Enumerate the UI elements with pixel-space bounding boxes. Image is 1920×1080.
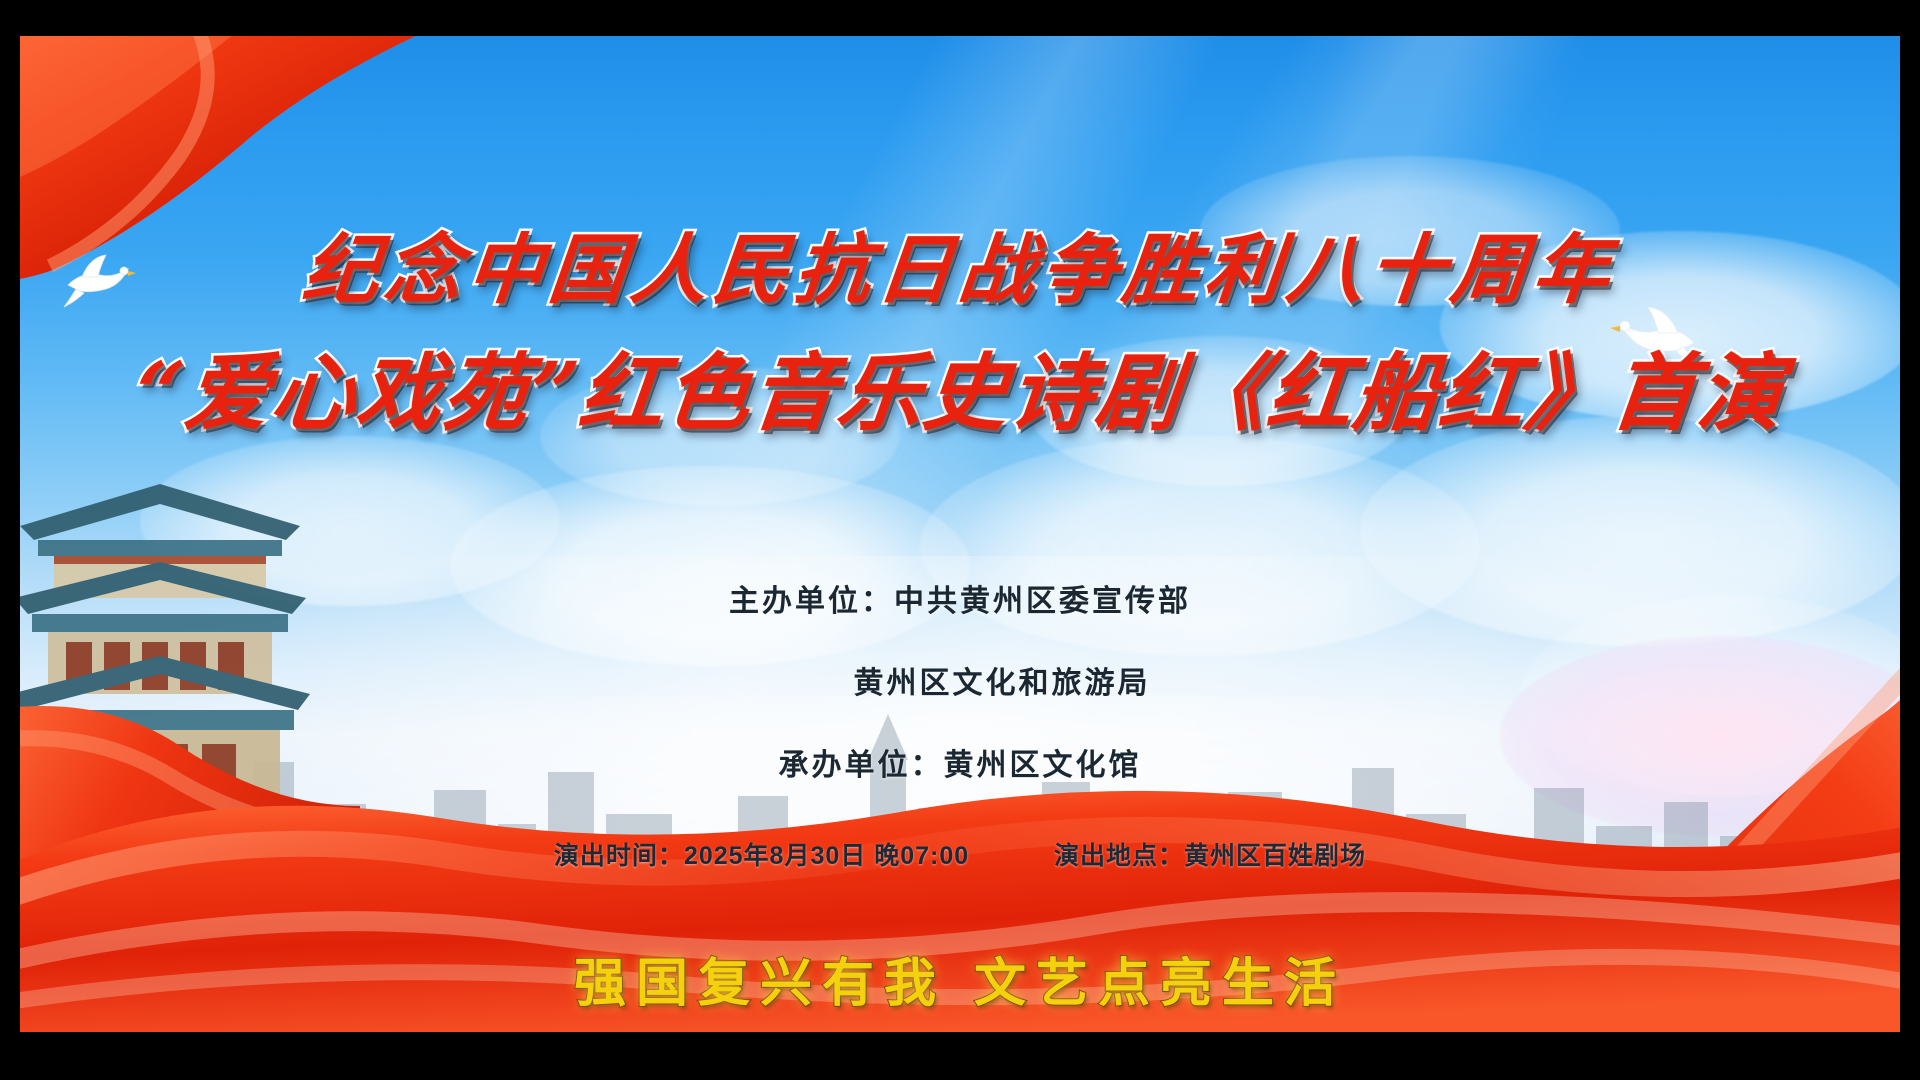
slogan-text: 强国复兴有我 文艺点亮生活 (574, 941, 1346, 1016)
slogan-banner: 强国复兴有我 文艺点亮生活 (20, 941, 1900, 1016)
letterbox-left (0, 0, 20, 1080)
poster-headline-primary: 纪念中国人民抗日战争胜利八十周年 (20, 208, 1900, 318)
letterbox-top (0, 0, 1920, 36)
organizer-line: 承办单位：黄州区文化馆 (20, 740, 1900, 784)
poster-canvas: 纪念中国人民抗日战争胜利八十周年 “爱心戏苑”红色音乐史诗剧《红船红》首演 主办… (20, 36, 1900, 1032)
headline-line-1-text: 纪念中国人民抗日战争胜利八十周年 (298, 208, 1622, 318)
letterbox-bottom (0, 1032, 1920, 1080)
performance-time: 演出时间：2025年8月30日 晚07:00 (554, 836, 969, 872)
poster-headline-secondary: “爱心戏苑”红色音乐史诗剧《红船红》首演 (20, 326, 1900, 447)
headline-line-2-text: “爱心戏苑”红色音乐史诗剧《红船红》首演 (129, 326, 1790, 447)
organizer-line: 黄州区文化和旅游局 (20, 658, 1900, 702)
performance-info-row: 演出时间：2025年8月30日 晚07:00 演出地点：黄州区百姓剧场 (20, 836, 1900, 872)
organizer-block: 主办单位：中共黄州区委宣传部 黄州区文化和旅游局 承办单位：黄州区文化馆 (20, 576, 1900, 822)
letterbox-right (1900, 0, 1920, 1080)
performance-venue: 演出地点：黄州区百姓剧场 (1054, 836, 1366, 872)
video-frame: 纪念中国人民抗日战争胜利八十周年 “爱心戏苑”红色音乐史诗剧《红船红》首演 主办… (0, 0, 1920, 1080)
sky-background (20, 36, 1900, 1032)
organizer-line: 主办单位：中共黄州区委宣传部 (20, 576, 1900, 620)
